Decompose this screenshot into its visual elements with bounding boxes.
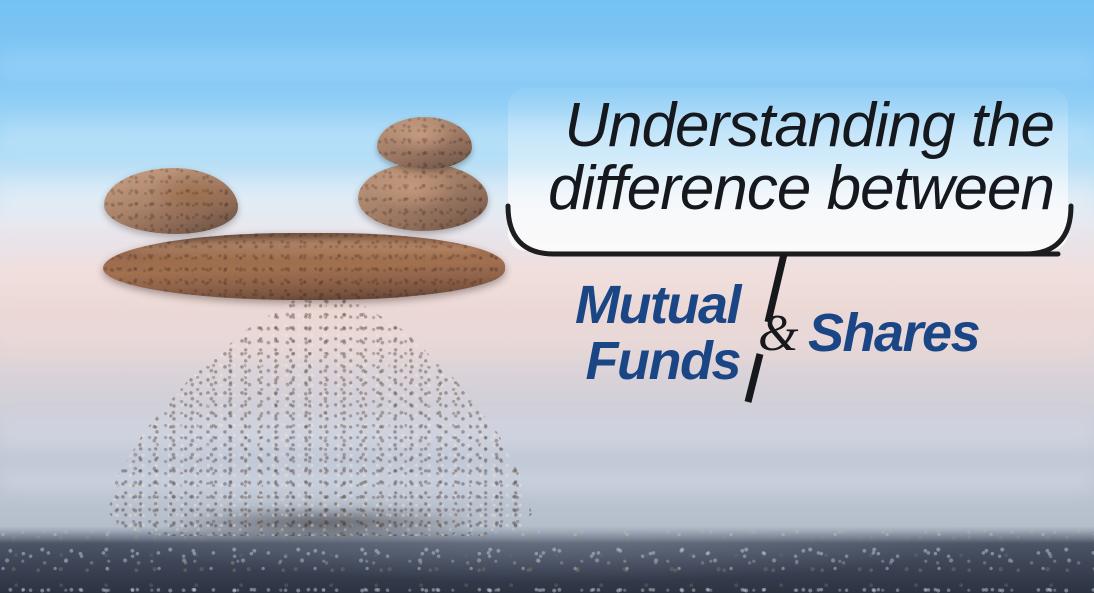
- headline-funds: Funds: [508, 334, 740, 388]
- pebble-left: [104, 168, 238, 234]
- stone-grain-texture: [103, 233, 505, 300]
- headline-mutual: Mutual: [508, 278, 740, 332]
- headline-shares: Shares: [808, 306, 979, 360]
- bubble-line-1: Understanding the: [508, 94, 1054, 157]
- pebble-top: [377, 117, 472, 169]
- ampersand-separator: &: [758, 308, 798, 360]
- stone-grain-texture: [104, 168, 238, 234]
- pebble-mid: [358, 163, 488, 231]
- bubble-line-2: difference between: [508, 157, 1054, 220]
- stone-grain-texture: [358, 163, 488, 231]
- headline-group: Mutual Funds & Shares: [508, 272, 1068, 392]
- hero-banner: Understanding the difference between Mut…: [0, 0, 1094, 593]
- speech-bubble-text: Understanding the difference between: [508, 94, 1054, 220]
- plank-stone: [103, 233, 505, 300]
- stone-grain-texture: [377, 117, 472, 169]
- cloud-band: [0, 52, 1094, 78]
- speech-bubble: Understanding the difference between: [508, 88, 1068, 251]
